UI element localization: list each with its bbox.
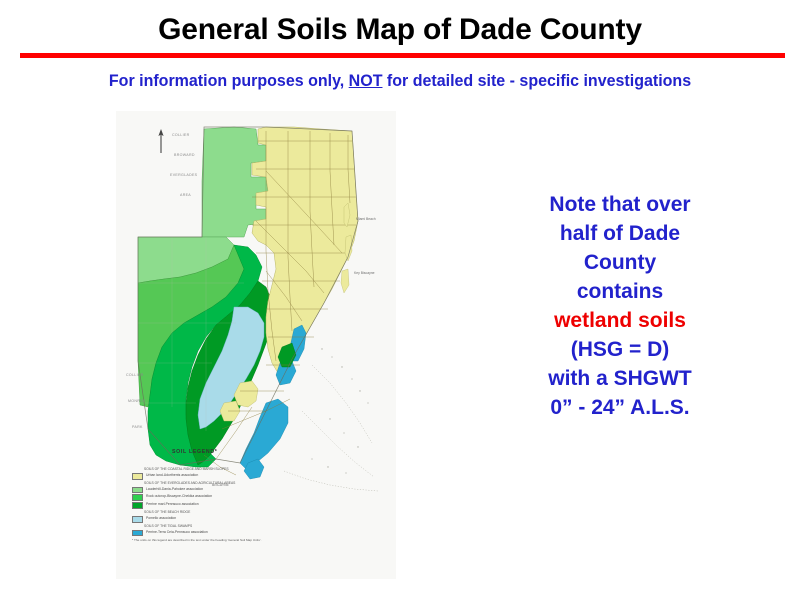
legend-heading-label: SOILS OF THE BEACH RIDGE: [144, 510, 382, 515]
map-label-collier-south: COLLIER: [126, 373, 143, 377]
map-label-collier: COLLIER: [172, 133, 189, 137]
legend-item: Lauderhill-Dania-Pahokee association: [132, 487, 382, 494]
subtitle-emphasis-not: NOT: [349, 72, 383, 90]
page-title: General Soils Map of Dade County: [0, 13, 800, 47]
note-line: half of Dade: [470, 219, 770, 248]
legend-color-swatch: [132, 494, 143, 501]
soil-legend-title: SOIL LEGEND*: [172, 449, 218, 457]
legend-color-swatch: [132, 530, 143, 537]
legend-item: Perrine-Terra Ceia-Pennsuco association: [132, 530, 382, 537]
legend-item: Pomello association: [132, 516, 382, 523]
legend-color-swatch: [132, 502, 143, 509]
note-line: contains: [470, 277, 770, 306]
note-line: 0” - 24” A.L.S.: [470, 393, 770, 422]
legend-color-swatch: [132, 516, 143, 523]
legend-item-label: Perrine-Terra Ceia-Pennsuco association: [146, 530, 382, 535]
map-label-broward: BROWARD: [174, 153, 195, 157]
legend-heading-label: SOILS OF THE COASTAL RIDGE AND MARSH SLO…: [144, 467, 382, 472]
map-label-miami-beach: Miami Beach: [356, 217, 376, 221]
soil-legend-rows: SOILS OF THE COASTAL RIDGE AND MARSH SLO…: [132, 467, 382, 536]
soil-legend: SOIL LEGEND* SOILS OF THE COASTAL RIDGE …: [132, 467, 382, 543]
slide-subtitle: For information purposes only, NOT for d…: [12, 72, 788, 91]
legend-item-label: Urban land-Udorthents association: [146, 473, 382, 478]
legend-item-label: Lauderhill-Dania-Pahokee association: [146, 487, 382, 492]
legend-swatch-blank: [132, 510, 141, 515]
note-line: (HSG = D): [470, 335, 770, 364]
legend-group-heading: SOILS OF THE BEACH RIDGE: [132, 510, 382, 515]
map-label-everglades: EVERGLADES: [170, 173, 197, 177]
map-label-key-biscayne: Key Biscayne: [354, 271, 375, 275]
legend-item: Perrine marl-Pennsuco association: [132, 502, 382, 509]
map-label-monroe: MONROE: [128, 399, 146, 403]
legend-swatch-blank: [132, 467, 141, 472]
legend-item-label: Perrine marl-Pennsuco association: [146, 502, 382, 507]
legend-item-label: Pomello association: [146, 516, 382, 521]
soil-legend-footnote: * The units on this legend are described…: [132, 538, 382, 542]
legend-heading-label: SOILS OF THE EVERGLADES AND AGRICULTURAL…: [144, 481, 382, 486]
legend-item: Rock outcrop-Biscayne-Chekika associatio…: [132, 494, 382, 501]
legend-swatch-blank: [132, 481, 141, 486]
note-line: Note that over: [470, 190, 770, 219]
legend-color-swatch: [132, 487, 143, 494]
legend-color-swatch: [132, 473, 143, 480]
legend-swatch-blank: [132, 524, 141, 529]
north-arrow-icon: [157, 129, 165, 155]
soils-map-image: COLLIER BROWARD EVERGLADES AREA COLLIER …: [116, 111, 396, 579]
note-line: wetland soils: [470, 306, 770, 335]
subtitle-text-after: for detailed site - specific investigati…: [382, 72, 691, 90]
legend-heading-label: SOILS OF THE TIDAL SWAMPS: [144, 524, 382, 529]
slide-canvas: General Soils Map of Dade County For inf…: [0, 0, 800, 600]
legend-group-heading: SOILS OF THE EVERGLADES AND AGRICULTURAL…: [132, 481, 382, 486]
legend-group-heading: SOILS OF THE TIDAL SWAMPS: [132, 524, 382, 529]
note-line: with a SHGWT: [470, 364, 770, 393]
map-label-area: AREA: [180, 193, 191, 197]
map-label-park: PARK: [132, 425, 143, 429]
subtitle-text-before: For information purposes only,: [109, 72, 349, 90]
legend-item: Urban land-Udorthents association: [132, 473, 382, 480]
legend-group-heading: SOILS OF THE COASTAL RIDGE AND MARSH SLO…: [132, 467, 382, 472]
title-divider-rule: [20, 53, 785, 58]
note-text-block: Note that overhalf of DadeCountycontains…: [470, 190, 770, 422]
legend-item-label: Rock outcrop-Biscayne-Chekika associatio…: [146, 494, 382, 499]
note-line: County: [470, 248, 770, 277]
